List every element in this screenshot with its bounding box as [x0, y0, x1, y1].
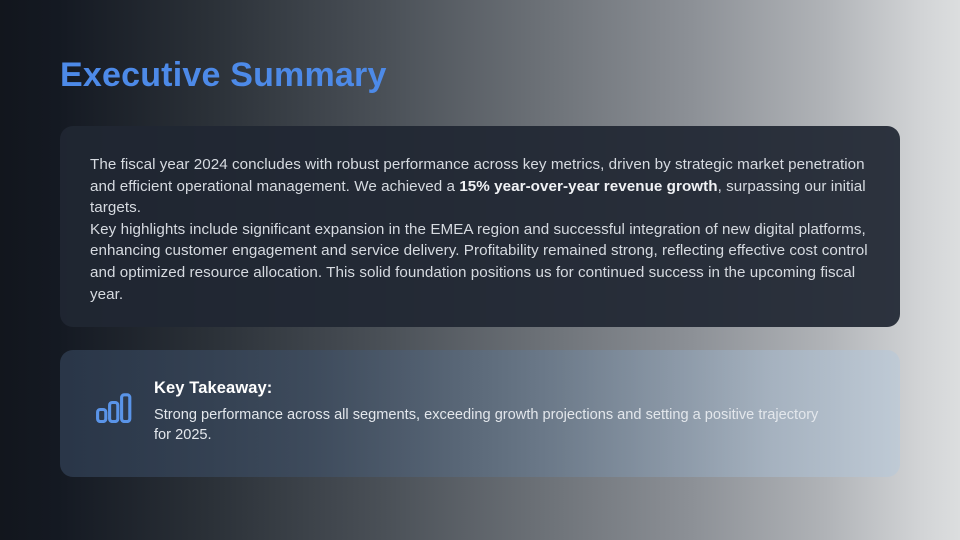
summary-card: The fiscal year 2024 concludes with robu… — [60, 126, 900, 327]
slide-root: Executive Summary The fiscal year 2024 c… — [0, 0, 960, 540]
summary-paragraph-1: The fiscal year 2024 concludes with robu… — [90, 154, 870, 219]
key-takeaway-heading: Key Takeaway: — [154, 378, 834, 399]
page-title: Executive Summary — [60, 56, 387, 95]
key-takeaway-text: Strong performance across all segments, … — [154, 405, 834, 445]
bar-chart-icon — [94, 388, 134, 428]
key-takeaway-body: Key Takeaway: Strong performance across … — [154, 376, 834, 445]
summary-paragraph-1-highlight: 15% year-over-year revenue growth — [459, 178, 717, 195]
summary-paragraph-2: Key highlights include significant expan… — [90, 219, 870, 305]
key-takeaway-card: Key Takeaway: Strong performance across … — [60, 350, 900, 477]
